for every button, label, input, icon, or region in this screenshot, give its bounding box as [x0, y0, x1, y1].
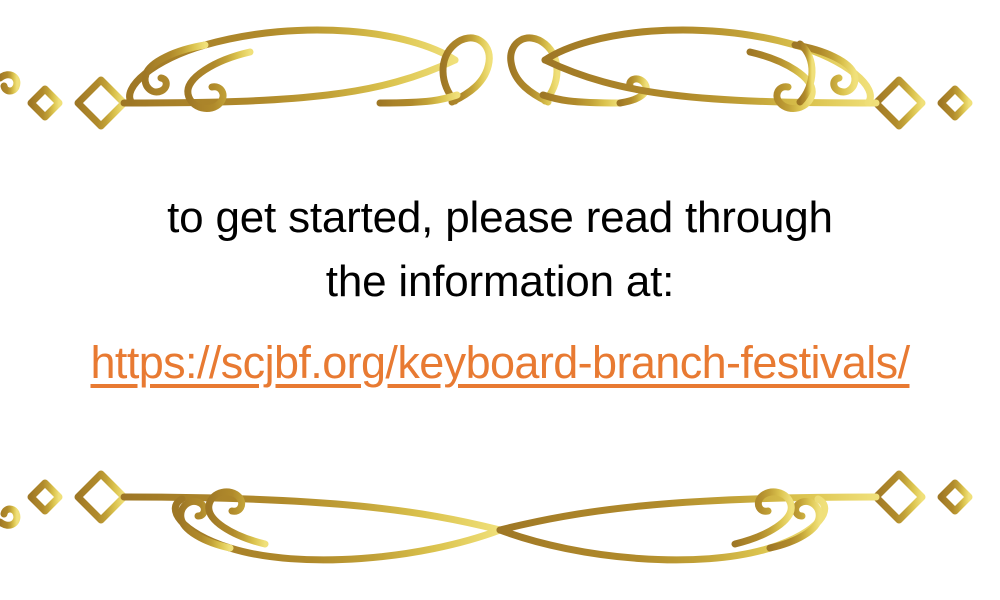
body-line-1: to get started, please read through	[0, 186, 1000, 250]
gold-flourish-divider-bottom-icon	[0, 460, 1000, 600]
slide-text-block: to get started, please read through the …	[0, 186, 1000, 405]
festival-info-hyperlink[interactable]: https://scjbf.org/keyboard-branch-festiv…	[91, 337, 910, 388]
link-line: https://scjbf.org/keyboard-branch-festiv…	[0, 332, 1000, 405]
gold-flourish-divider-top-icon	[0, 0, 1000, 140]
slide-canvas: to get started, please read through the …	[0, 0, 1000, 600]
body-line-2: the information at:	[0, 250, 1000, 314]
